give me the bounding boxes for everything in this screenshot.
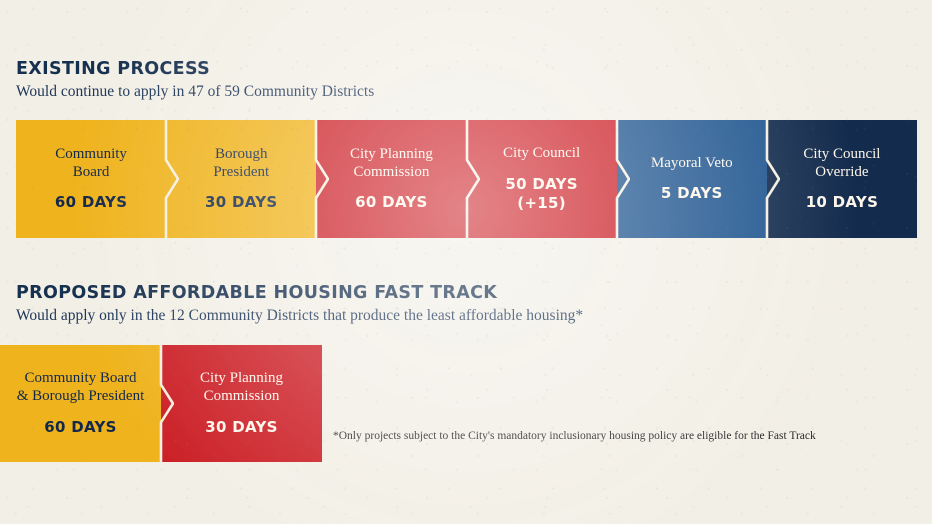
flow-step-existing-6: City Council Override10 DAYS bbox=[767, 120, 917, 238]
flow-step-duration: 10 DAYS bbox=[806, 193, 879, 212]
existing-process-heading-group: EXISTING PROCESS Would continue to apply… bbox=[0, 60, 932, 101]
flow-step-name: Borough President bbox=[213, 146, 269, 181]
flow-step-fasttrack-2: City Planning Commission30 DAYS bbox=[161, 345, 322, 462]
flow-step-name: City Planning Commission bbox=[350, 146, 433, 181]
fast-track-title: PROPOSED AFFORDABLE HOUSING FAST TRACK bbox=[16, 284, 932, 303]
flow-step-existing-1: Community Board60 DAYS bbox=[16, 120, 166, 238]
flow-step-name: Community Board & Borough President bbox=[17, 370, 145, 405]
flow-step-name: Mayoral Veto bbox=[651, 155, 733, 173]
existing-process-subtitle: Would continue to apply in 47 of 59 Comm… bbox=[16, 83, 932, 101]
flow-step-duration: 60 DAYS bbox=[355, 193, 428, 212]
existing-process-flow: Community Board60 DAYSBorough President3… bbox=[16, 120, 917, 238]
footnote: *Only projects subject to the City's man… bbox=[333, 430, 816, 444]
flow-step-existing-5: Mayoral Veto5 DAYS bbox=[617, 120, 767, 238]
flow-step-duration: 30 DAYS bbox=[205, 193, 278, 212]
flow-step-existing-4: City Council50 DAYS (+15) bbox=[467, 120, 617, 238]
flow-step-duration: 60 DAYS bbox=[55, 193, 128, 212]
section-existing-process: EXISTING PROCESS Would continue to apply… bbox=[0, 60, 932, 101]
flow-step-duration: 5 DAYS bbox=[661, 184, 723, 203]
flow-step-duration: 60 DAYS bbox=[44, 418, 117, 437]
flow-step-duration: 50 DAYS (+15) bbox=[505, 175, 578, 213]
flow-step-fasttrack-1: Community Board & Borough President60 DA… bbox=[0, 345, 161, 462]
flow-step-existing-3: City Planning Commission60 DAYS bbox=[316, 120, 466, 238]
fast-track-flow: Community Board & Borough President60 DA… bbox=[0, 345, 322, 462]
page-title: EXISTING PROCESS bbox=[16, 60, 932, 79]
flow-step-name: Community Board bbox=[55, 146, 127, 181]
fast-track-subtitle: Would apply only in the 12 Community Dis… bbox=[16, 307, 932, 325]
fast-track-heading-group: PROPOSED AFFORDABLE HOUSING FAST TRACK W… bbox=[0, 284, 932, 325]
section-fast-track: PROPOSED AFFORDABLE HOUSING FAST TRACK W… bbox=[0, 284, 932, 325]
flow-step-name: City Planning Commission bbox=[200, 370, 283, 405]
flow-step-name: City Council bbox=[503, 145, 580, 163]
flow-step-existing-2: Borough President30 DAYS bbox=[166, 120, 316, 238]
flow-step-name: City Council Override bbox=[803, 146, 880, 181]
flow-step-duration: 30 DAYS bbox=[205, 418, 278, 437]
